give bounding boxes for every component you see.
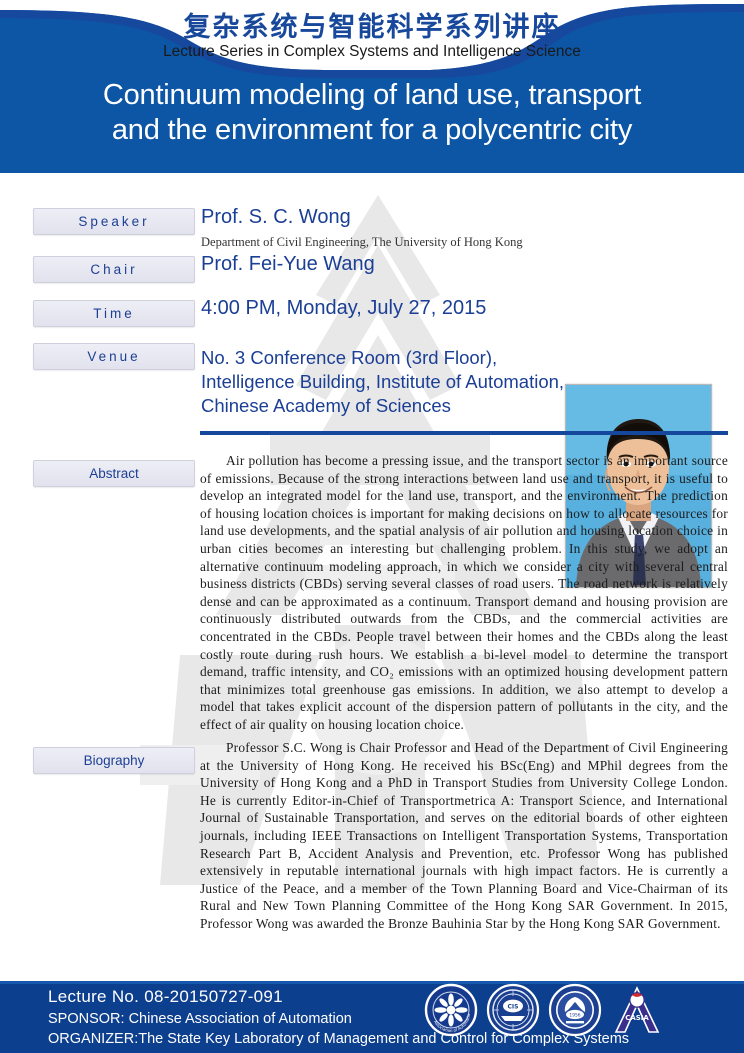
svg-text:CIS: CIS	[508, 1004, 519, 1011]
lecture-title-line-2: and the environment for a polycentric ci…	[0, 113, 744, 148]
abstract-label: Abstract	[33, 460, 195, 487]
ia-cas-logo: 1956	[548, 983, 602, 1037]
poster-body: Speaker Prof. S. C. Wong Department of C…	[0, 173, 744, 981]
venue-line-1: No. 3 Conference Room (3rd Floor),	[201, 346, 564, 370]
svg-text:CASIA: CASIA	[625, 1014, 649, 1022]
speaker-affiliation: Department of Civil Engineering, The Uni…	[201, 235, 523, 250]
cis-logo: CIS	[486, 983, 540, 1037]
svg-text:1956: 1956	[569, 1012, 580, 1018]
lecture-title-line-1: Continuum modeling of land use, transpor…	[0, 78, 744, 113]
abstract-text: Air pollution has become a pressing issu…	[200, 452, 728, 734]
venue-line-3: Chinese Academy of Sciences	[201, 394, 564, 418]
footer-logo-row: Association of Automation CIS 1956	[424, 982, 740, 1038]
series-title-english: Lecture Series in Complex Systems and In…	[0, 43, 744, 61]
lecture-number: Lecture No. 08-20150727-091	[48, 987, 283, 1007]
speaker-label: Speaker	[33, 208, 195, 235]
casia-logo: CASIA	[610, 983, 664, 1037]
chair-name: Prof. Fei-Yue Wang	[201, 253, 375, 276]
biography-label: Biography	[33, 747, 195, 774]
sponsor-line: SPONSOR: Chinese Association of Automati…	[48, 1011, 352, 1027]
lecture-title: Continuum modeling of land use, transpor…	[0, 78, 744, 148]
series-title-chinese: 复杂系统与智能科学系列讲座	[0, 5, 744, 44]
biography-text: Professor S.C. Wong is Chair Professor a…	[200, 739, 728, 933]
caa-logo: Association of Automation	[424, 983, 478, 1037]
venue-value: No. 3 Conference Room (3rd Floor), Intel…	[201, 346, 564, 418]
venue-label: Venue	[33, 343, 195, 370]
poster-header: 复杂系统与智能科学系列讲座 Lecture Series in Complex …	[0, 0, 744, 173]
time-label: Time	[33, 300, 195, 327]
venue-line-2: Intelligence Building, Institute of Auto…	[201, 370, 564, 394]
lecture-poster: 复杂系统与智能科学系列讲座 Lecture Series in Complex …	[0, 0, 744, 1053]
speaker-name: Prof. S. C. Wong	[201, 206, 351, 229]
chair-label: Chair	[33, 256, 195, 283]
section-divider	[200, 431, 728, 435]
time-value: 4:00 PM, Monday, July 27, 2015	[201, 297, 486, 320]
